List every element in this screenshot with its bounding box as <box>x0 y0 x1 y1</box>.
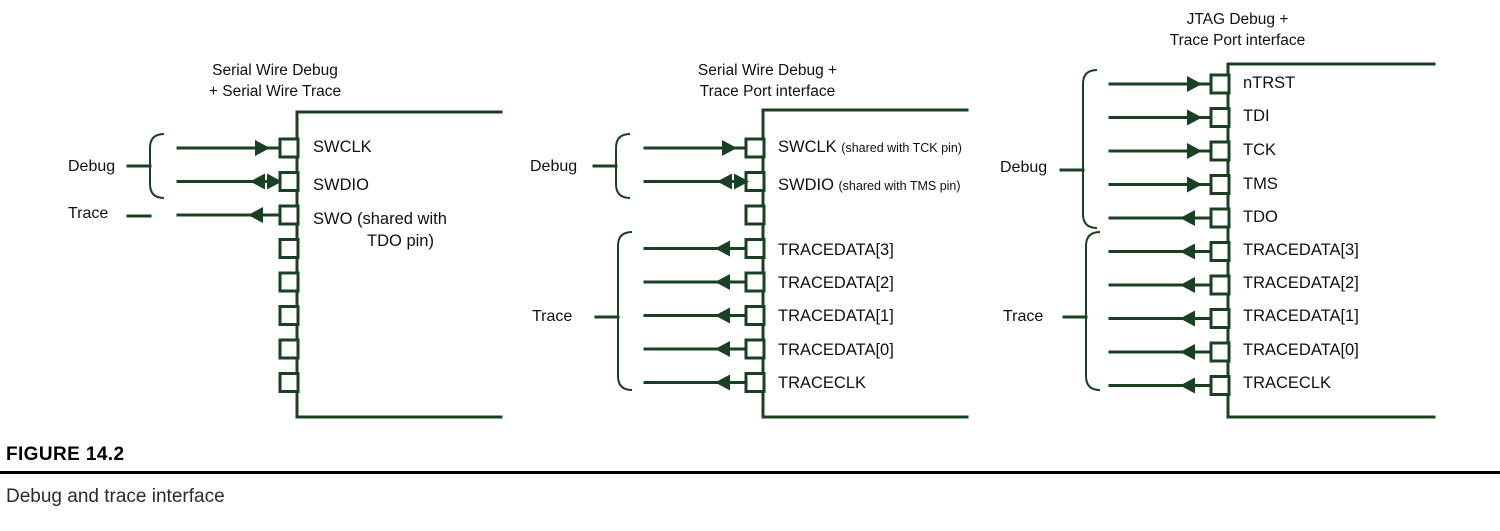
pin-pad-serial-wire-debug-trace-6 <box>280 340 298 358</box>
pin-pad-jtag-debug-trace-port-3 <box>1211 176 1229 194</box>
pin-label-tracedata2-panel3: TRACEDATA[2] <box>1243 274 1359 293</box>
arrow-out-serial-wire-debug-trace-port-5 <box>715 308 730 324</box>
arrow-in-serial-wire-debug-trace-0 <box>255 140 270 156</box>
pin-pad-jtag-debug-trace-port-1 <box>1211 109 1229 127</box>
group-label-debug-panel2: Debug <box>530 158 577 176</box>
figure-caption: Debug and trace interface <box>0 474 1500 508</box>
pin-pad-serial-wire-debug-trace-port-3 <box>746 240 764 258</box>
pin-label-swo-panel1: SWO (shared with TDO pin) <box>313 208 488 252</box>
pin-label-tracedata0-panel2: TRACEDATA[0] <box>778 341 894 360</box>
pin-label-swclk-name: SWCLK <box>778 138 837 156</box>
arrow-out-serial-wire-debug-trace-2 <box>248 207 263 223</box>
group-label-trace-panel3: Trace <box>1003 308 1043 326</box>
pin-label-swclk-panel2: SWCLK (shared with TCK pin) <box>778 138 962 157</box>
pin-pad-jtag-debug-trace-port-7 <box>1211 310 1229 328</box>
arrow-in-serial-wire-debug-trace-port-0 <box>722 140 737 156</box>
pin-pad-jtag-debug-trace-port-0 <box>1211 75 1229 93</box>
arrow-in-jtag-debug-trace-port-0 <box>1187 76 1202 92</box>
pin-label-tdo-panel3: TDO <box>1243 208 1278 227</box>
pin-label-tdi-panel3: TDI <box>1243 107 1270 126</box>
pin-pad-serial-wire-debug-trace-5 <box>280 307 298 325</box>
group-brace-serial-wire-debug-trace-port-1 <box>618 232 632 390</box>
panel-title-serial-wire-debug-trace-port: Serial Wire Debug + Trace Port interface <box>635 60 900 102</box>
pin-label-swclk-panel1: SWCLK <box>313 138 372 157</box>
arrow-out-serial-wire-debug-trace-port-6 <box>715 341 730 357</box>
group-label-trace-panel1: Trace <box>68 205 108 223</box>
arrow-out-serial-wire-debug-trace-port-7 <box>715 375 730 391</box>
arrow-out-jtag-debug-trace-port-9 <box>1180 378 1195 394</box>
pin-pad-serial-wire-debug-trace-port-6 <box>746 340 764 358</box>
pin-pad-serial-wire-debug-trace-port-4 <box>746 273 764 291</box>
panel-title-jtag-debug-trace-port: JTAG Debug + Trace Port interface <box>1105 9 1370 51</box>
group-brace-jtag-debug-trace-port-0 <box>1083 70 1097 228</box>
figure-root: Serial Wire Debug + Serial Wire Trace De… <box>0 0 1500 531</box>
arrow-out-serial-wire-debug-trace-port-3 <box>715 241 730 257</box>
pin-pad-jtag-debug-trace-port-8 <box>1211 343 1229 361</box>
pin-label-swdio-panel2: SWDIO (shared with TMS pin) <box>778 176 961 195</box>
arrow-out-jtag-debug-trace-port-6 <box>1180 277 1195 293</box>
pin-pad-serial-wire-debug-trace-port-0 <box>746 139 764 157</box>
group-label-debug-panel3: Debug <box>1000 159 1047 177</box>
pin-pad-jtag-debug-trace-port-6 <box>1211 276 1229 294</box>
group-brace-serial-wire-debug-trace-port-0 <box>616 134 630 198</box>
pin-label-tck-panel3: TCK <box>1243 141 1276 160</box>
pin-label-tracedata3-panel3: TRACEDATA[3] <box>1243 241 1359 260</box>
arrow-bidir-left-serial-wire-debug-trace-1 <box>250 174 265 190</box>
pin-label-tms-panel3: TMS <box>1243 175 1278 194</box>
group-brace-jtag-debug-trace-port-1 <box>1086 232 1100 390</box>
arrow-out-serial-wire-debug-trace-port-4 <box>715 274 730 290</box>
group-label-trace-panel2: Trace <box>532 308 572 326</box>
pin-pad-serial-wire-debug-trace-0 <box>280 139 298 157</box>
pin-pad-serial-wire-debug-trace-2 <box>280 206 298 224</box>
arrow-out-jtag-debug-trace-port-7 <box>1180 311 1195 327</box>
pin-label-tracedata0-panel3: TRACEDATA[0] <box>1243 341 1359 360</box>
pin-pad-jtag-debug-trace-port-4 <box>1211 209 1229 227</box>
pin-pad-serial-wire-debug-trace-1 <box>280 173 298 191</box>
pin-label-swdio-name: SWDIO <box>778 176 834 194</box>
pin-pad-jtag-debug-trace-port-5 <box>1211 243 1229 261</box>
pin-label-swo-line2: TDO pin) <box>313 230 488 252</box>
pin-pad-jtag-debug-trace-port-2 <box>1211 142 1229 160</box>
pin-pad-serial-wire-debug-trace-7 <box>280 374 298 392</box>
arrow-bidir-left-serial-wire-debug-trace-port-1 <box>717 174 732 190</box>
pin-label-traceclk-panel3: TRACECLK <box>1243 374 1331 393</box>
arrow-in-jtag-debug-trace-port-1 <box>1187 110 1202 126</box>
pin-label-ntrst-panel3: nTRST <box>1243 74 1295 93</box>
panel-title-serial-wire-debug-trace: Serial Wire Debug + Serial Wire Trace <box>160 60 390 102</box>
pin-pad-serial-wire-debug-trace-port-2 <box>746 206 764 224</box>
figure-number: FIGURE 14.2 <box>0 440 1500 471</box>
pin-label-traceclk-panel2: TRACECLK <box>778 374 866 393</box>
pin-pad-serial-wire-debug-trace-port-5 <box>746 307 764 325</box>
arrow-out-jtag-debug-trace-port-4 <box>1180 210 1195 226</box>
pin-label-swdio-panel1: SWDIO <box>313 176 369 195</box>
arrow-in-jtag-debug-trace-port-2 <box>1187 143 1202 159</box>
pin-pad-serial-wire-debug-trace-port-7 <box>746 374 764 392</box>
pin-pad-serial-wire-debug-trace-4 <box>280 273 298 291</box>
figure-caption-block: FIGURE 14.2 Debug and trace interface <box>0 440 1500 508</box>
pin-label-tracedata1-panel2: TRACEDATA[1] <box>778 307 894 326</box>
pin-label-tracedata3-panel2: TRACEDATA[3] <box>778 241 894 260</box>
pin-pad-jtag-debug-trace-port-9 <box>1211 377 1229 395</box>
pin-label-tracedata2-panel2: TRACEDATA[2] <box>778 274 894 293</box>
pin-label-swdio-note: (shared with TMS pin) <box>839 179 961 193</box>
group-label-debug-panel1: Debug <box>68 158 115 176</box>
pin-label-swclk-note: (shared with TCK pin) <box>841 141 962 155</box>
pin-label-tracedata1-panel3: TRACEDATA[1] <box>1243 307 1359 326</box>
arrow-out-jtag-debug-trace-port-8 <box>1180 344 1195 360</box>
pin-label-swo-line1: SWO (shared with <box>313 210 447 228</box>
arrow-in-jtag-debug-trace-port-3 <box>1187 177 1202 193</box>
pin-pad-serial-wire-debug-trace-3 <box>280 240 298 258</box>
arrow-out-jtag-debug-trace-port-5 <box>1180 244 1195 260</box>
group-brace-serial-wire-debug-trace-0 <box>150 134 164 198</box>
